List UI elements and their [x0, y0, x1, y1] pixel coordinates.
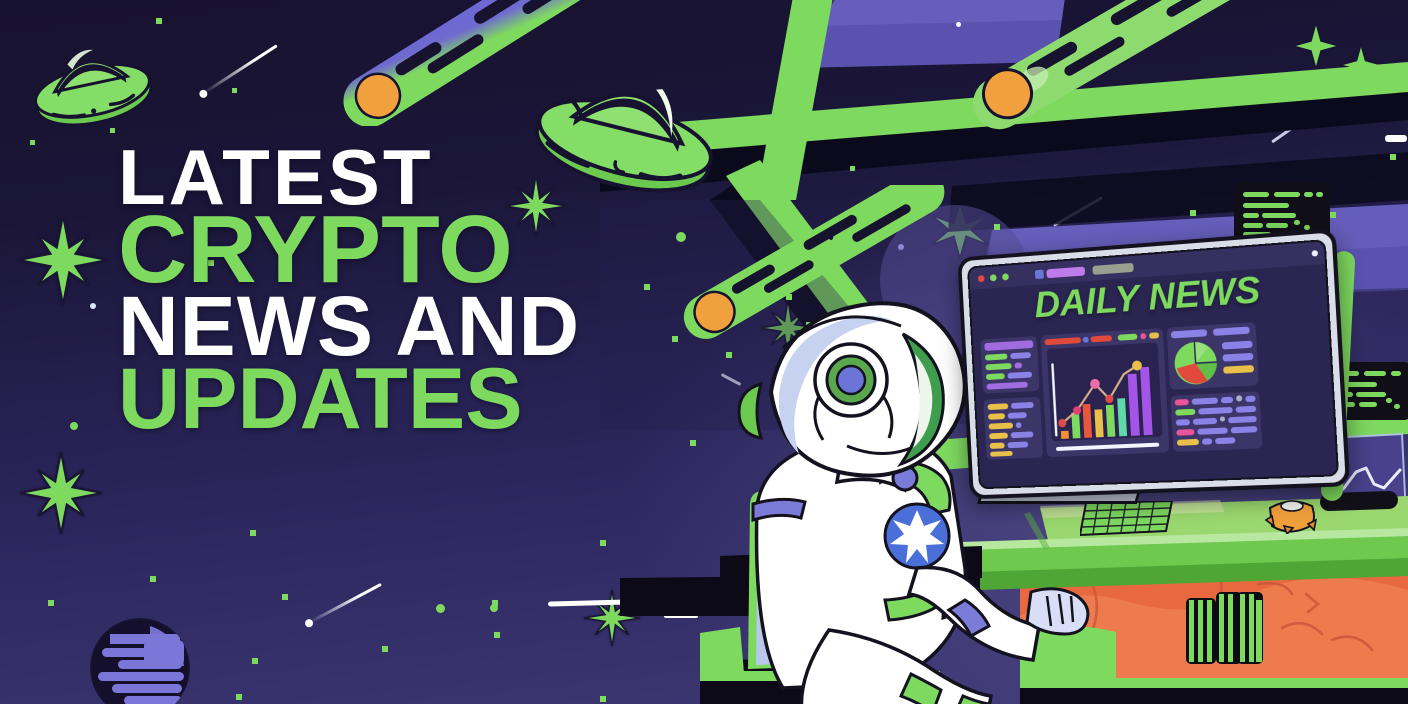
- pie-chart: [1171, 339, 1220, 388]
- banner-image: DAILY NEWS: [0, 0, 1408, 704]
- comet-green-top-right: [960, 0, 1290, 160]
- comet-purple-tail: [330, 0, 670, 126]
- panel-right-list: [1170, 391, 1262, 452]
- chart-axis-bar: [1056, 443, 1159, 451]
- monitor-screen[interactable]: DAILY NEWS: [967, 239, 1339, 489]
- headline-line-4: UPDATES: [118, 362, 580, 438]
- panel-left-top: [980, 336, 1039, 394]
- panel-left-bottom: [983, 397, 1043, 460]
- monitor[interactable]: DAILY NEWS: [955, 243, 1345, 495]
- chart-plot-area: [1047, 342, 1163, 441]
- ufo-top-left-icon: [26, 22, 156, 142]
- orange-device: [1262, 492, 1320, 534]
- panel-center-chart: [1040, 328, 1169, 457]
- browser-tab-icon[interactable]: [1035, 270, 1044, 279]
- panel-right-pie: [1167, 322, 1259, 390]
- page-title: LATEST CRYPTO NEWS AND UPDATES: [118, 143, 580, 438]
